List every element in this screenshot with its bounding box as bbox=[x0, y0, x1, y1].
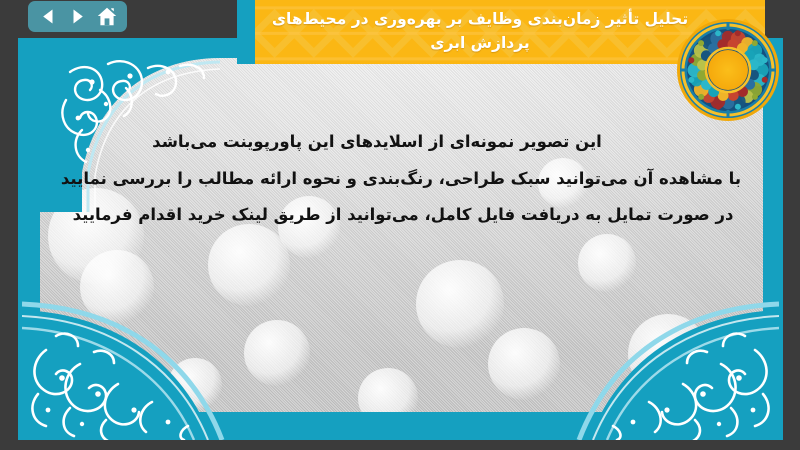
body-line: این تصویر نمونه‌ای از اسلایدهای این پاور… bbox=[58, 134, 748, 151]
frame-edge-top bbox=[18, 38, 258, 58]
slide-canvas: این تصویر نمونه‌ای از اسلایدهای این پاور… bbox=[18, 38, 783, 440]
home-button[interactable] bbox=[95, 6, 119, 28]
forward-button[interactable] bbox=[66, 6, 90, 28]
frame-edge-bottom bbox=[18, 412, 783, 440]
home-icon bbox=[97, 7, 117, 26]
body-line: در صورت تمایل به دریافت فایل کامل، می‌تو… bbox=[58, 207, 748, 224]
back-button[interactable] bbox=[37, 6, 61, 28]
navigation-bar bbox=[28, 1, 127, 32]
body-line: با مشاهده آن می‌توانید سبک طراحی، رنگ‌بن… bbox=[58, 171, 748, 188]
slide-body-text: این تصویر نمونه‌ای از اسلایدهای این پاور… bbox=[58, 134, 748, 244]
mandala-medallion-icon bbox=[676, 18, 780, 122]
back-arrow-icon bbox=[40, 8, 57, 25]
frame-edge-left bbox=[18, 38, 40, 440]
title-tab-accent bbox=[237, 0, 255, 64]
forward-arrow-icon bbox=[69, 8, 86, 25]
